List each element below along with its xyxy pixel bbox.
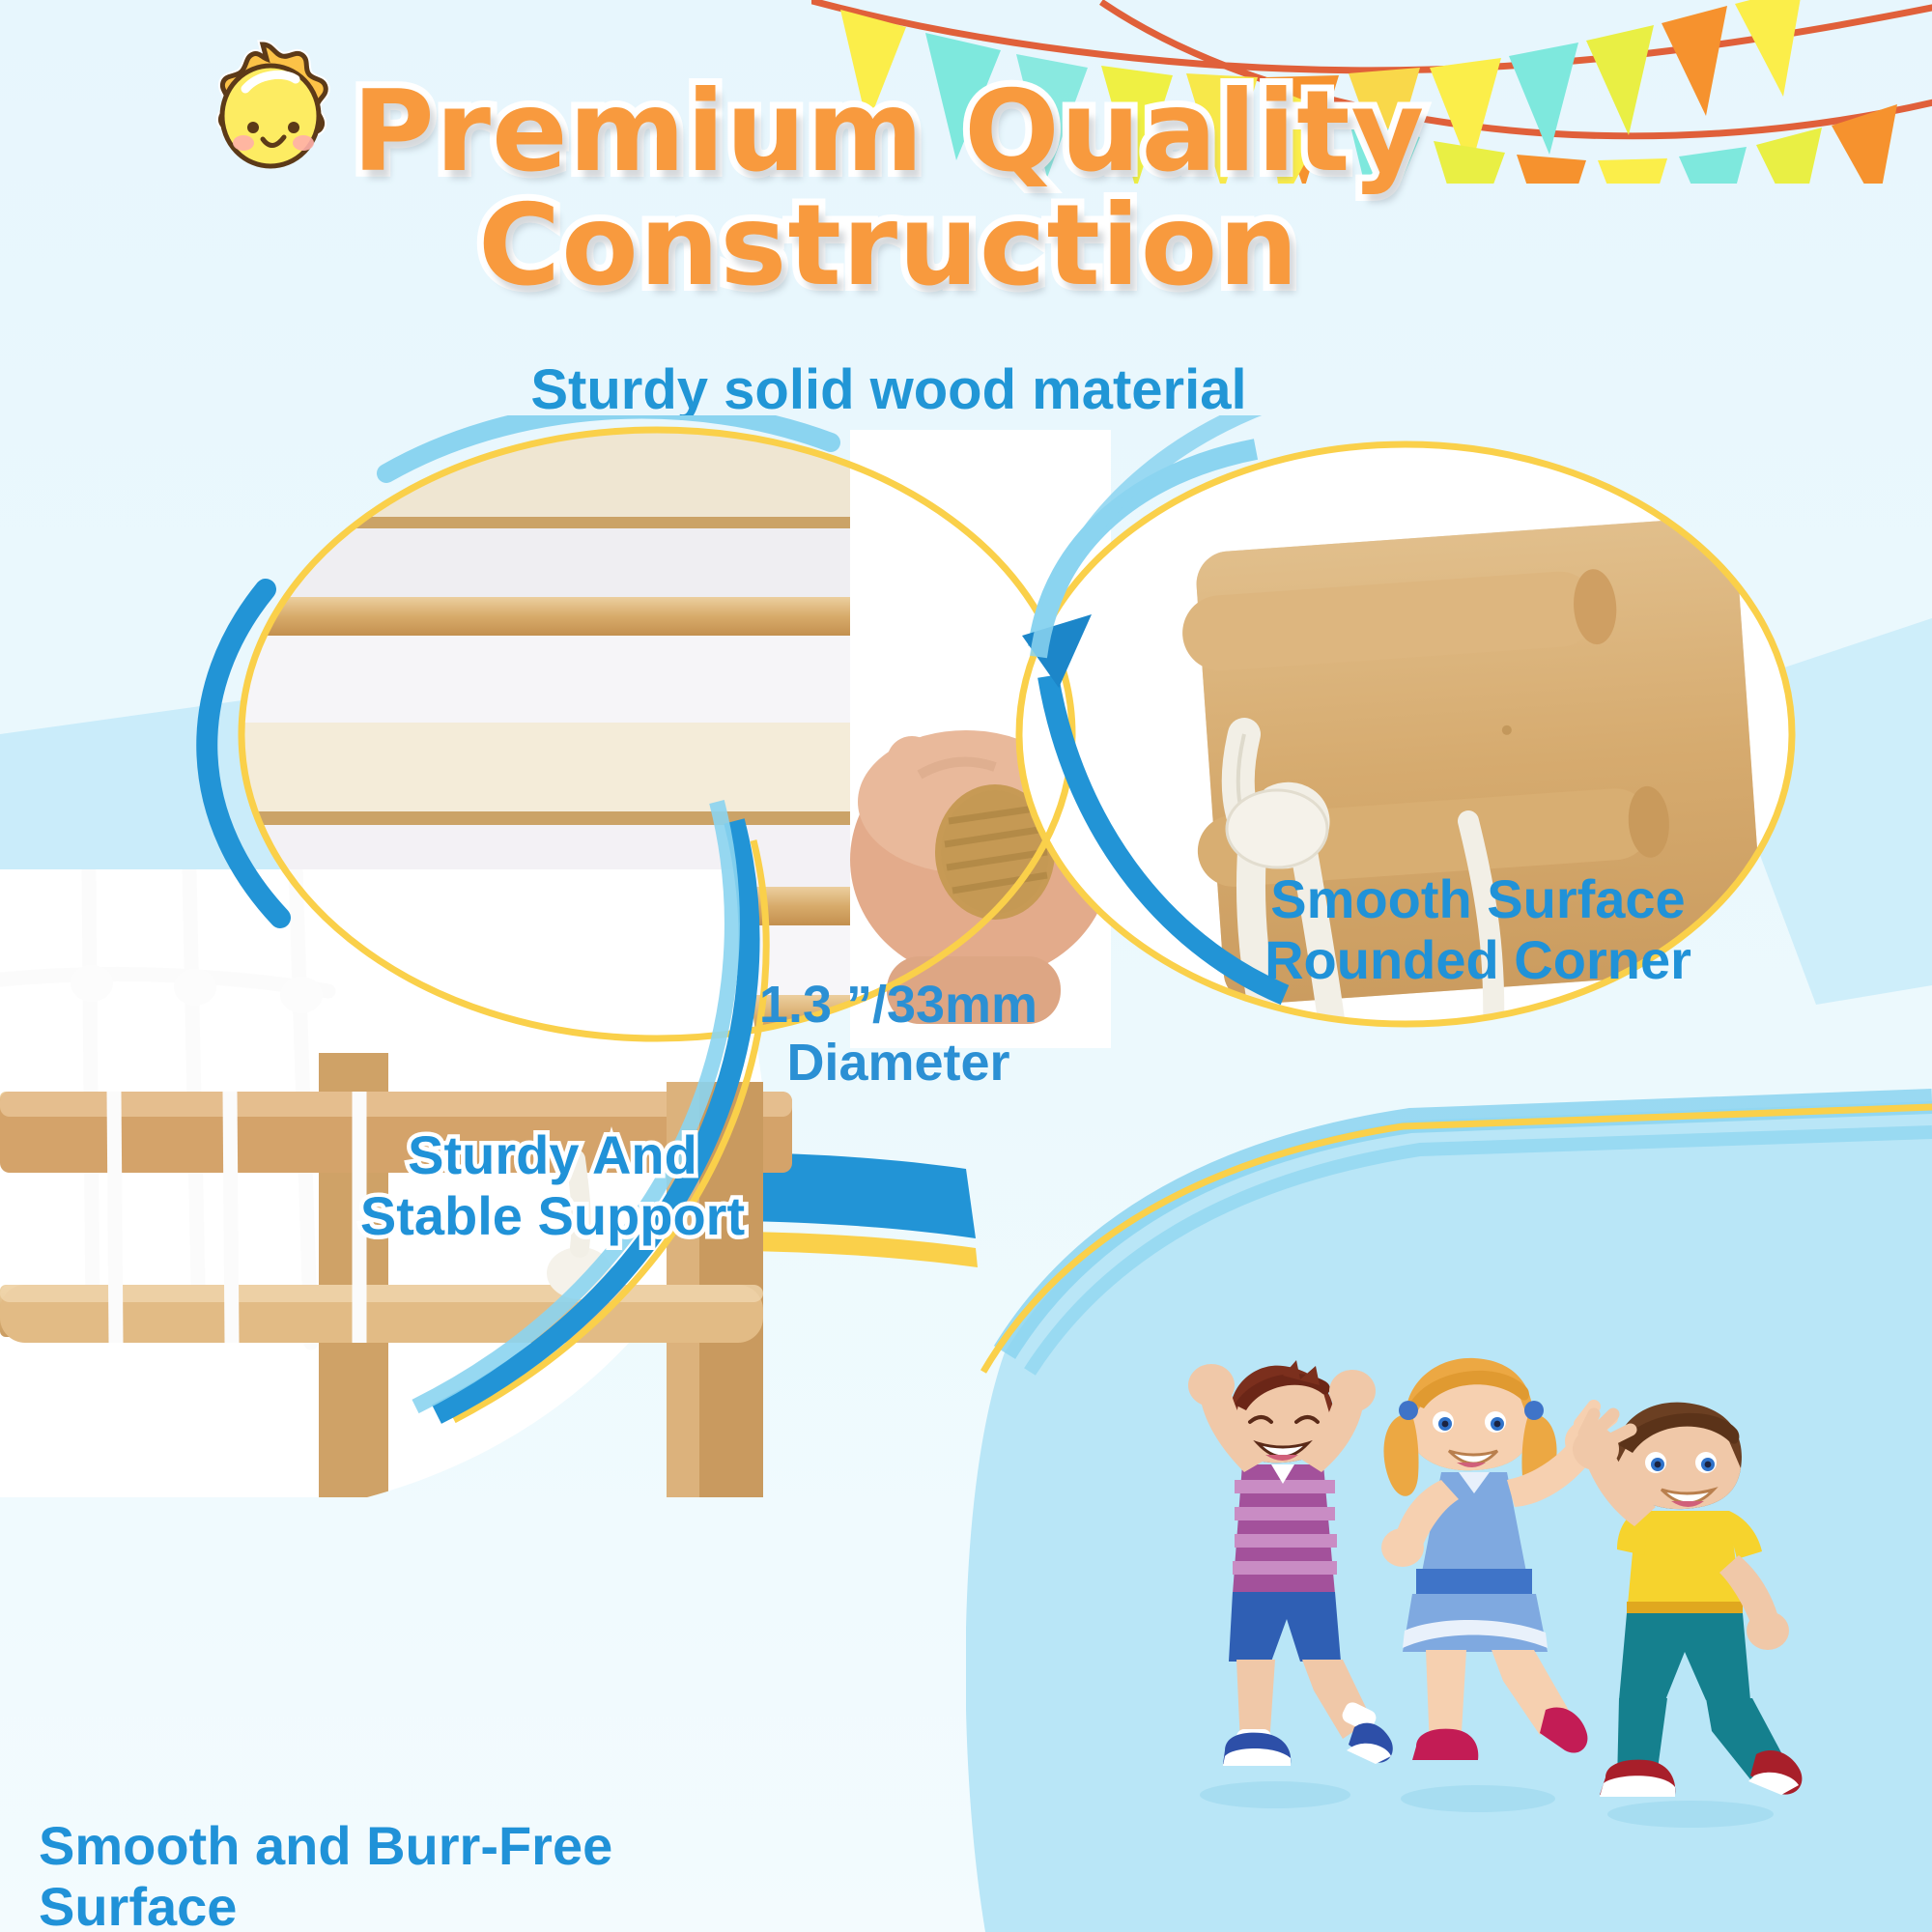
page-subtitle: Sturdy solid wood material bbox=[348, 357, 1430, 422]
smiling-sun-icon bbox=[185, 39, 340, 193]
label-burr-free-surface: Smooth and Burr-Free Surface bbox=[39, 1816, 773, 1932]
diameter-line-2: Diameter bbox=[724, 1034, 1072, 1092]
smooth-line-1: Smooth Surface bbox=[1111, 869, 1845, 930]
title-line-2: Construction bbox=[348, 189, 1430, 303]
infographic-root: Premium Quality Construction Sturdy soli… bbox=[0, 0, 1932, 1932]
smooth-line-2: Rounded Corner bbox=[1111, 930, 1845, 991]
page-title: Premium Quality Construction bbox=[348, 75, 1430, 304]
burr-free-text: Smooth and Burr-Free Surface bbox=[39, 1816, 773, 1932]
kids-illustration-panel bbox=[966, 1082, 1932, 1932]
label-diameter: 1.3 ”/33mm Diameter bbox=[724, 976, 1072, 1093]
title-line-1: Premium Quality bbox=[348, 75, 1430, 189]
label-sturdy-stable-support: Sturdy And Stable Support bbox=[282, 1125, 823, 1246]
label-smooth-surface-rounded-corner: Smooth Surface Rounded Corner bbox=[1111, 869, 1845, 990]
diameter-line-1: 1.3 ”/33mm bbox=[724, 976, 1072, 1034]
sturdy-line-2: Stable Support bbox=[282, 1186, 823, 1247]
sturdy-line-1: Sturdy And bbox=[282, 1125, 823, 1186]
